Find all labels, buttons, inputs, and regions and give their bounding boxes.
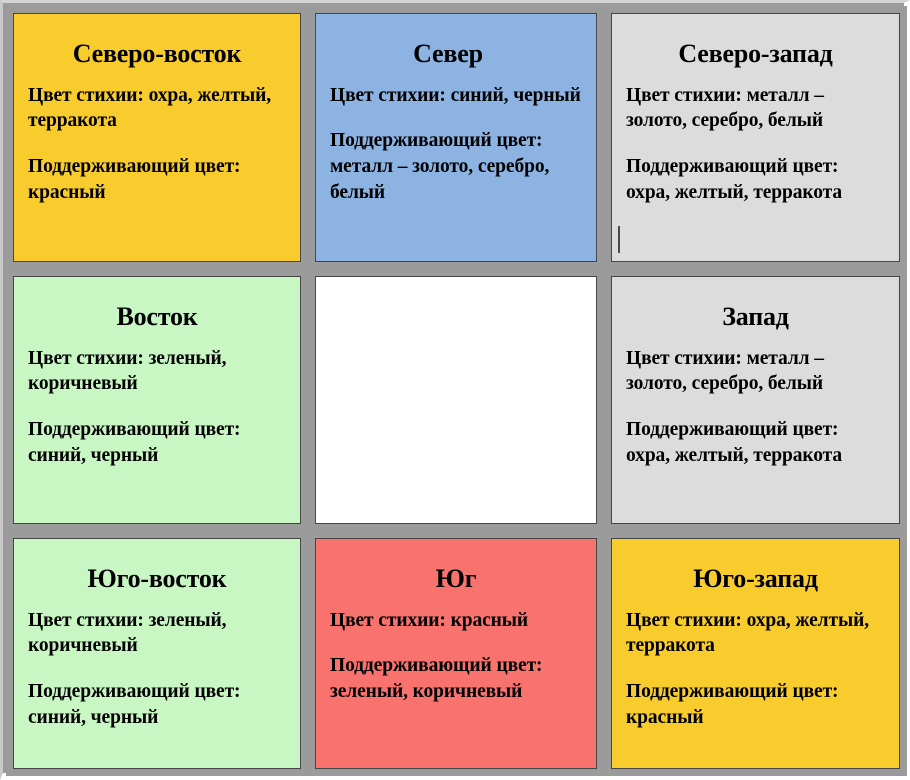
cell-line-east-1: Поддерживающий цвет: синий, черный [28, 417, 286, 468]
cell-line-south-east-1: Поддерживающий цвет: синий, черный [28, 679, 286, 730]
cell-content-center [316, 277, 596, 523]
cell-line-south-west-0: Цвет стихии: охра, желтый, терракота [626, 608, 885, 659]
text-cursor-caret [618, 226, 620, 253]
grid-cell-north-west[interactable]: Северо-западЦвет стихии: металл – золото… [611, 13, 900, 262]
cell-line-west-0: Цвет стихии: металл – золото, серебро, б… [626, 346, 885, 397]
cell-line-north-west-0: Цвет стихии: металл – золото, серебро, б… [626, 83, 885, 134]
cell-line-north-0: Цвет стихии: синий, черный [330, 83, 582, 109]
grid-cell-south-east[interactable]: Юго-востокЦвет стихии: зеленый, коричнев… [13, 538, 301, 769]
grid-cell-north-east[interactable]: Северо-востокЦвет стихии: охра, желтый, … [13, 13, 301, 262]
cell-content-south: ЮгЦвет стихии: красныйПоддерживающий цве… [316, 539, 596, 768]
grid-cell-west[interactable]: ЗападЦвет стихии: металл – золото, сереб… [611, 276, 900, 524]
cell-content-east: ВостокЦвет стихии: зеленый, коричневыйПо… [14, 277, 300, 523]
grid-cell-south[interactable]: ЮгЦвет стихии: красныйПоддерживающий цве… [315, 538, 597, 769]
grid-cell-east[interactable]: ВостокЦвет стихии: зеленый, коричневыйПо… [13, 276, 301, 524]
cell-title-south-east: Юго-восток [28, 565, 286, 594]
cell-title-south-west: Юго-запад [626, 565, 885, 594]
grid-cell-center[interactable] [315, 276, 597, 524]
grid-cell-north[interactable]: СеверЦвет стихии: синий, черныйПоддержив… [315, 13, 597, 262]
cell-content-south-east: Юго-востокЦвет стихии: зеленый, коричнев… [14, 539, 300, 768]
bagua-direction-grid: Северо-востокЦвет стихии: охра, желтый, … [6, 6, 907, 776]
cell-line-south-1: Поддерживающий цвет: зеленый, коричневый [330, 653, 582, 704]
cell-title-north: Север [322, 40, 574, 69]
cell-line-north-east-1: Поддерживающий цвет: красный [28, 154, 286, 205]
cell-title-north-east: Северо-восток [28, 40, 286, 69]
cell-content-north-west: Северо-западЦвет стихии: металл – золото… [612, 14, 899, 261]
cell-line-north-1: Поддерживающий цвет: металл – золото, се… [330, 128, 582, 205]
cell-line-east-0: Цвет стихии: зеленый, коричневый [28, 346, 286, 397]
document-frame: Северо-востокЦвет стихии: охра, желтый, … [0, 0, 910, 780]
cell-content-west: ЗападЦвет стихии: металл – золото, сереб… [612, 277, 899, 523]
cell-content-north: СеверЦвет стихии: синий, черныйПоддержив… [316, 14, 596, 261]
cell-title-north-west: Северо-запад [626, 40, 885, 69]
cell-line-west-1: Поддерживающий цвет: охра, желтый, терра… [626, 417, 885, 468]
cell-title-south: Юг [330, 565, 582, 594]
cell-line-north-west-1: Поддерживающий цвет: охра, желтый, терра… [626, 154, 885, 205]
cell-title-west: Запад [626, 303, 885, 332]
cell-line-north-east-0: Цвет стихии: охра, желтый, терракота [28, 83, 286, 134]
cell-line-south-east-0: Цвет стихии: зеленый, коричневый [28, 608, 286, 659]
grid-cell-south-west[interactable]: Юго-западЦвет стихии: охра, желтый, терр… [611, 538, 900, 769]
cell-line-south-0: Цвет стихии: красный [330, 608, 582, 634]
cell-content-south-west: Юго-западЦвет стихии: охра, желтый, терр… [612, 539, 899, 768]
cell-content-north-east: Северо-востокЦвет стихии: охра, желтый, … [14, 14, 300, 261]
cell-title-east: Восток [28, 303, 286, 332]
cell-line-south-west-1: Поддерживающий цвет: красный [626, 679, 885, 730]
